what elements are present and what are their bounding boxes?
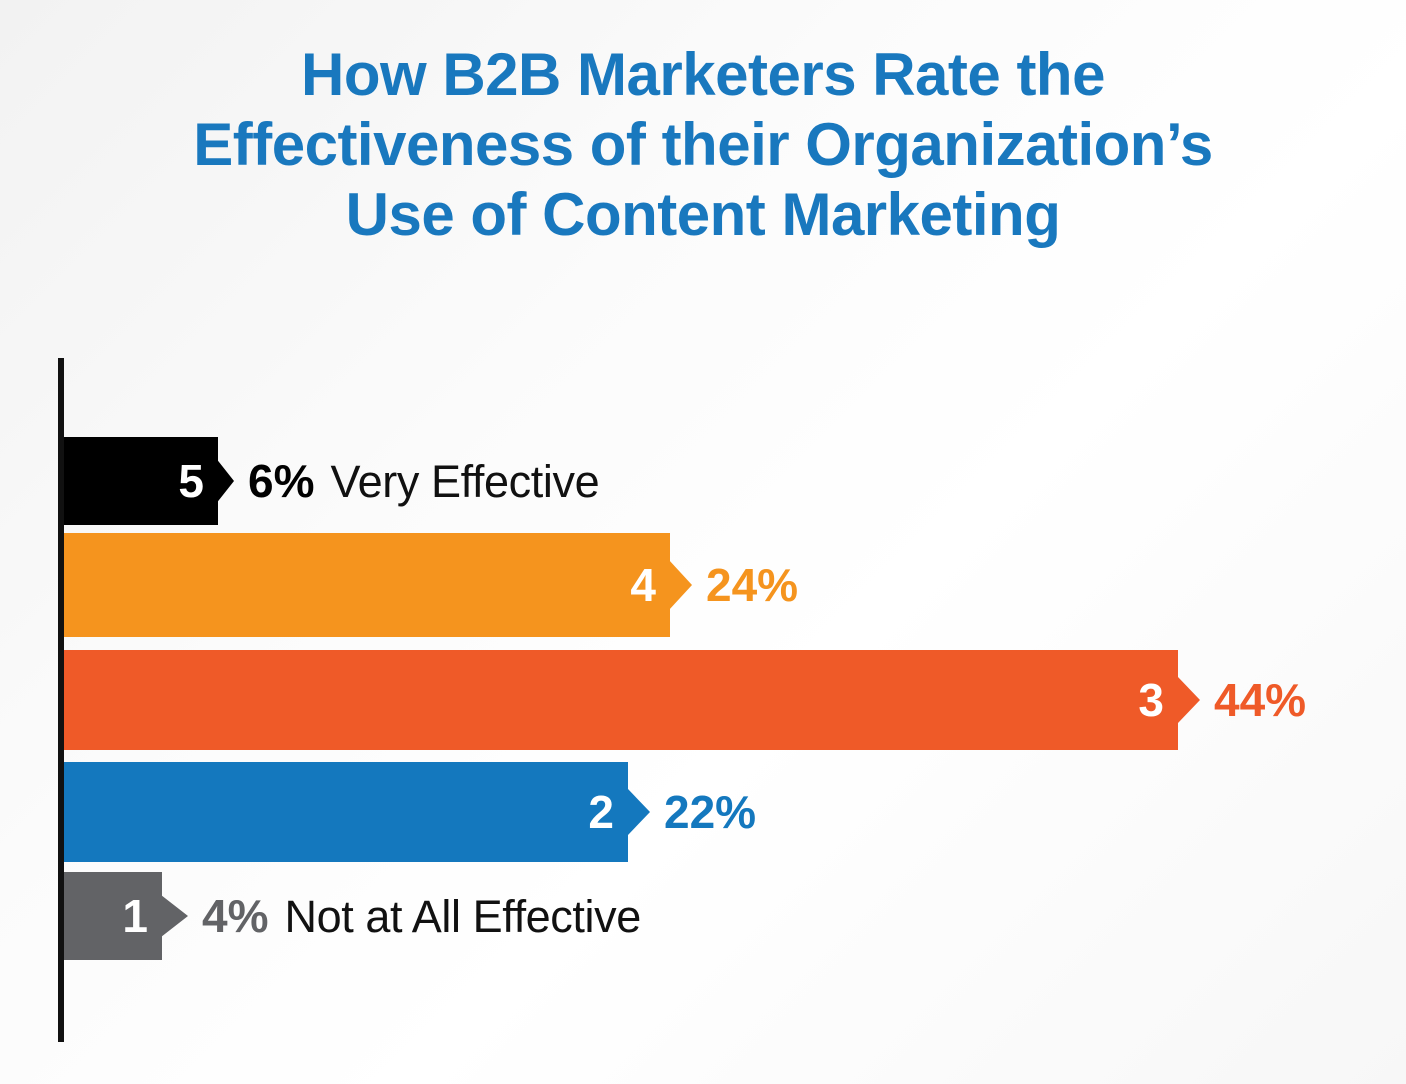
bar-value-group-2: 22% bbox=[664, 762, 772, 862]
chart-plot-area: 5 6% Very Effective 4 24% 3 44% 2 22% bbox=[0, 0, 1406, 1084]
bar-percent-3: 44% bbox=[1214, 677, 1306, 723]
bar-value-group-3: 44% bbox=[1214, 650, 1322, 750]
bar-shape-rating-4 bbox=[64, 533, 692, 637]
bar-shape-rating-1 bbox=[64, 872, 188, 960]
bar-value-group-5: 6% Very Effective bbox=[248, 437, 599, 525]
bar-shape-rating-2 bbox=[64, 762, 650, 862]
bar-percent-2: 22% bbox=[664, 789, 756, 835]
bar-percent-1: 4% bbox=[202, 893, 268, 939]
bar-caption-5: Very Effective bbox=[330, 459, 599, 504]
bar-shape-rating-5 bbox=[64, 437, 234, 525]
bar-value-group-1: 4% Not at All Effective bbox=[202, 872, 641, 960]
bar-shape-rating-3 bbox=[64, 650, 1200, 750]
bar-percent-5: 6% bbox=[248, 458, 314, 504]
bar-caption-1: Not at All Effective bbox=[284, 894, 640, 939]
bar-percent-4: 24% bbox=[706, 562, 798, 608]
bar-value-group-4: 24% bbox=[706, 533, 814, 637]
